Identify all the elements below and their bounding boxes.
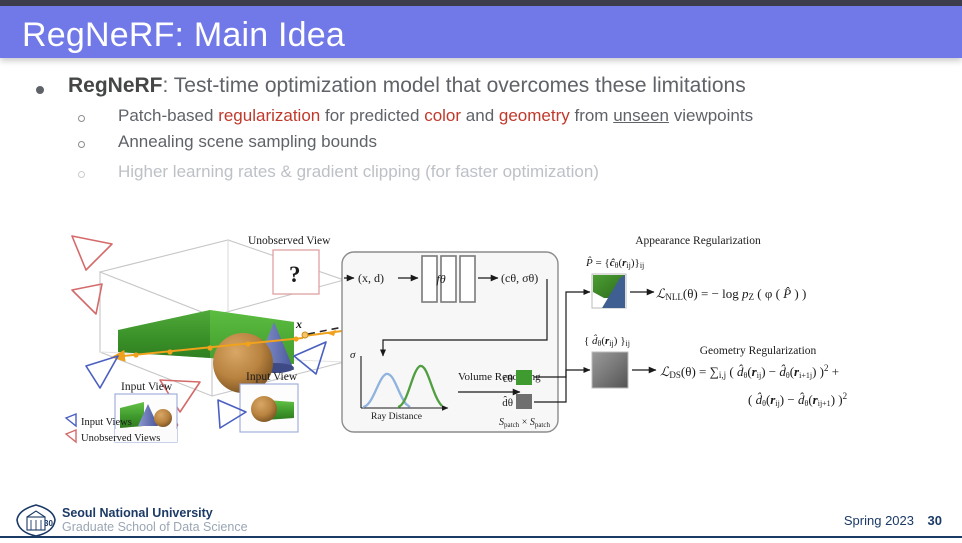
bullet-level2-text: Patch-based regularization for predicted… xyxy=(118,106,753,126)
bullet-disc-icon xyxy=(36,86,44,94)
legend-unobserved-frustum-icon xyxy=(66,430,76,442)
bullet-list: RegNeRF: Test-time optimization model th… xyxy=(0,74,962,188)
bullet-level2-text: Annealing scene sampling bounds xyxy=(118,132,377,152)
mlp-function-label: fθ xyxy=(436,272,445,286)
bullet-level2-higher-learning-rates: Higher learning rates & gradient clippin… xyxy=(0,162,962,188)
bullet-text-fragment: Higher learning rates & gradient clippin… xyxy=(118,162,599,181)
geometry-loss-line1: ℒDS(θ) = ∑i,j ( d̂θ(rij) − d̂θ(ri+1j) )2… xyxy=(660,363,839,380)
bullet-text-fragment: unseen xyxy=(613,106,669,125)
school-name: Graduate School of Data Science xyxy=(62,520,248,534)
bullet-text-fragment: for predicted xyxy=(320,106,424,125)
mlp-layers: fθ xyxy=(422,256,475,302)
appearance-loss-label: ℒNLL(θ) = − log pZ ( φ ( P̂ ) ) xyxy=(656,286,806,302)
frustum-unobs-left xyxy=(72,284,102,314)
bullet-level1-regnerf: RegNeRF: Test-time optimization model th… xyxy=(0,74,962,106)
university-logo-block: 30 Seoul National University Graduate Sc… xyxy=(14,503,344,537)
page-title: RegNeRF: Main Idea xyxy=(22,16,345,55)
sigma-axis-label: σ xyxy=(350,349,356,361)
university-name: Seoul National University xyxy=(62,506,213,520)
question-mark-label: ? xyxy=(289,262,301,287)
bullet-level1-rest: : Test-time optimization model that over… xyxy=(163,74,746,97)
geometry-patch-set-label: { d̂θ(rij) }ij xyxy=(584,334,630,348)
frustum-input-left xyxy=(86,356,118,388)
bullet-text-fragment: and xyxy=(461,106,499,125)
bullet-level1-text: RegNeRF: Test-time optimization model th… xyxy=(68,74,746,98)
appearance-heading: Appearance Regularization xyxy=(635,235,761,247)
geometry-regularization-group: Geometry Regularization { d̂θ(rij) }ij ℒ… xyxy=(584,334,847,408)
appearance-patch-set-label: P̂ = {ĉθ(rij)}ij xyxy=(585,256,644,270)
depth-output-swatch xyxy=(516,394,532,409)
legend-input-views-label: Input Views xyxy=(81,417,132,428)
bullet-text-fragment: viewpoints xyxy=(669,106,753,125)
bullet-text-fragment: from xyxy=(570,106,613,125)
bullet-level2-text: Higher learning rates & gradient clippin… xyxy=(118,162,599,182)
bullet-level2-annealing-sampling: Annealing scene sampling bounds xyxy=(0,132,962,158)
bullet-text-fragment: Annealing scene sampling bounds xyxy=(118,132,377,151)
bullet-level2-patch-regularization: Patch-based regularization for predicted… xyxy=(0,106,962,132)
frustum-unobs-topleft xyxy=(72,236,112,270)
title-banner: RegNeRF: Main Idea xyxy=(0,6,962,58)
unobserved-view-label: Unobserved View xyxy=(248,235,331,247)
appearance-color-patch xyxy=(592,274,626,308)
bullet-text-fragment: color xyxy=(424,106,461,125)
color-output-swatch xyxy=(516,370,532,385)
network-output-label: (cθ, σθ) xyxy=(501,271,538,285)
ray-distance-label: Ray Distance xyxy=(371,412,422,422)
input-view-thumb-right xyxy=(240,384,298,432)
bullet-text-fragment: regularization xyxy=(218,106,320,125)
frustum-input-right xyxy=(294,342,326,374)
color-output-label: ĉθ xyxy=(503,373,513,385)
bullet-text-fragment: Patch-based xyxy=(118,106,218,125)
geometry-heading: Geometry Regularization xyxy=(700,345,817,357)
network-input-label: (x, d) xyxy=(358,271,384,285)
input-view-label-left: Input View xyxy=(121,381,173,393)
bullet-text-fragment: geometry xyxy=(499,106,570,125)
legend-input-frustum-icon xyxy=(66,414,76,426)
legend-unobserved-views-label: Unobserved Views xyxy=(81,433,160,444)
bullet-level1-lead: RegNeRF xyxy=(68,74,163,97)
bullet-ring-icon xyxy=(78,115,85,122)
footer-page-number: 30 xyxy=(928,513,942,528)
input-view-label-right: Input View xyxy=(246,371,298,383)
geometry-depth-patch xyxy=(592,352,628,388)
bullet-ring-icon xyxy=(78,171,85,178)
regnerf-pipeline-figure: x d Unobserved View ? Input View xyxy=(58,222,938,472)
network-panel-group: (x, d) fθ (cθ, σθ) σ Ray Distance Volume… xyxy=(342,252,558,432)
sub-bullet-group: Patch-based regularization for predicted… xyxy=(0,106,962,188)
crest-year-label: 30 xyxy=(44,519,53,528)
scene-point-label: x xyxy=(295,317,302,331)
depth-output-label: d̂θ xyxy=(502,395,513,409)
appearance-regularization-group: Appearance Regularization P̂ = {ĉθ(rij)}… xyxy=(585,235,806,308)
bullet-ring-icon xyxy=(78,141,85,148)
footer-term: Spring 2023 xyxy=(844,513,914,528)
geometry-loss-line2: ( d̂θ(rij) − d̂θ(rij+1) )2 xyxy=(748,391,847,408)
